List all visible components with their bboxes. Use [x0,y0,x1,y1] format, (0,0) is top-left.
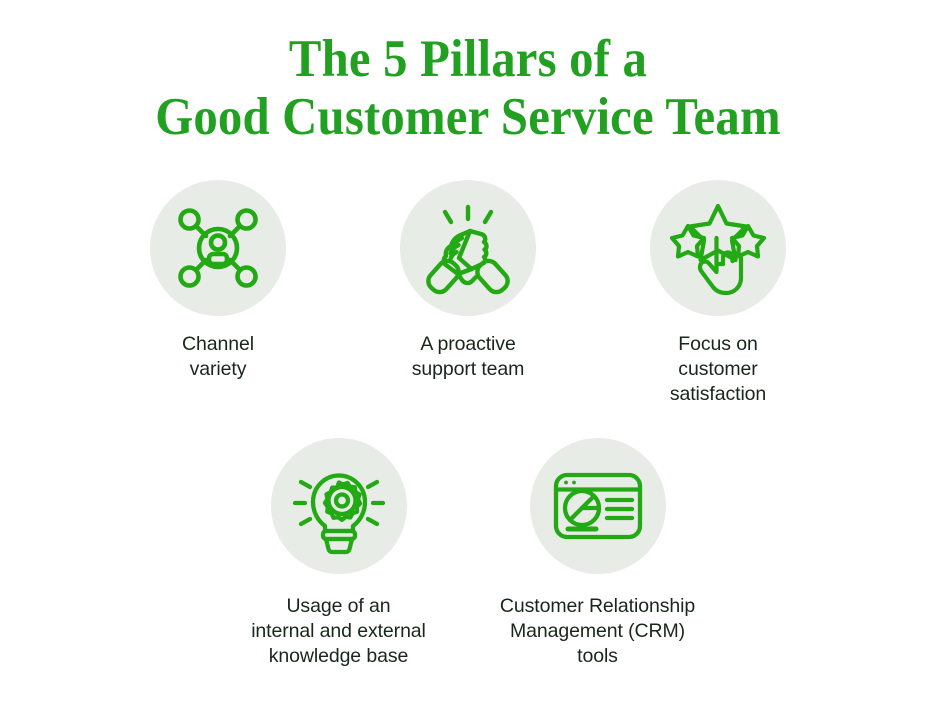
pillar-row-top: Channel variety [0,180,936,407]
icon-circle [650,180,786,316]
page-title: The 5 Pillars of a Good Customer Service… [0,30,936,146]
title-line-1: The 5 Pillars of a [37,30,898,88]
pillar-knowledge-base[interactable]: Usage of an internal and external knowle… [209,438,468,669]
pillar-label: Usage of an internal and external knowle… [251,594,426,669]
handshake-icon [418,198,518,298]
pillar-proactive-support-team[interactable]: A proactive support team [343,180,593,407]
pillar-row-bottom: Usage of an internal and external knowle… [0,438,936,669]
dashboard-window-chart-icon [548,456,648,556]
pillar-label: A proactive support team [412,332,525,382]
pillar-channel-variety[interactable]: Channel variety [93,180,343,407]
pillar-crm-tools[interactable]: Customer Relationship Management (CRM) t… [468,438,727,669]
pillar-customer-satisfaction[interactable]: Focus on customer satisfaction [593,180,843,407]
stars-hand-rating-icon [668,198,768,298]
pillar-label: Customer Relationship Management (CRM) t… [500,594,695,669]
icon-circle [150,180,286,316]
network-person-icon [170,200,266,296]
lightbulb-gear-icon [289,456,389,556]
pillar-label: Channel variety [182,332,254,382]
icon-circle [530,438,666,574]
infographic-canvas: The 5 Pillars of a Good Customer Service… [0,0,936,722]
pillar-label: Focus on customer satisfaction [670,332,766,407]
icon-circle [400,180,536,316]
title-line-2: Good Customer Service Team [37,88,898,146]
icon-circle [271,438,407,574]
